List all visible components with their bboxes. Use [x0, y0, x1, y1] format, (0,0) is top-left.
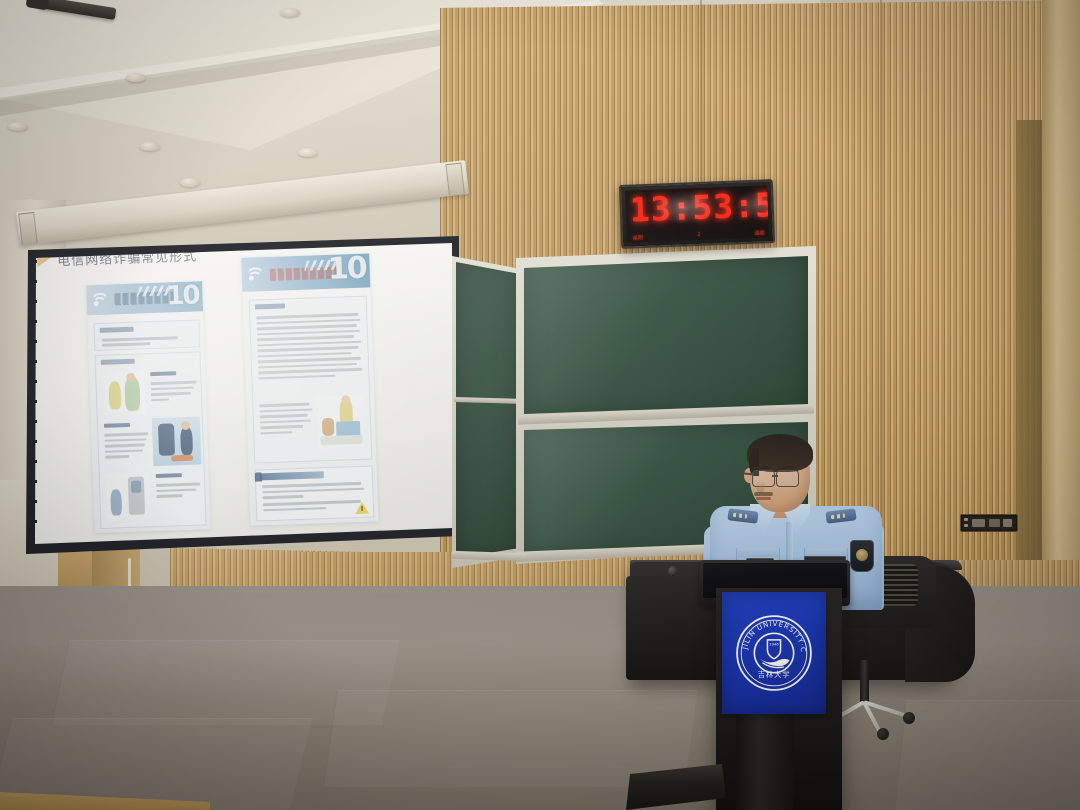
case-illustration	[317, 395, 365, 451]
wall-port-panel-right[interactable]	[960, 514, 1018, 532]
step-label-3	[156, 473, 182, 478]
poster-intro-heading	[100, 327, 134, 333]
poster-steps-heading	[101, 359, 135, 365]
downlight	[298, 148, 318, 157]
housing-bracket	[445, 162, 465, 196]
case-text-block	[256, 313, 362, 383]
mouth	[756, 497, 771, 500]
poster-banner-right: 10	[241, 253, 370, 291]
step-label-1	[150, 371, 176, 376]
downlight	[126, 73, 146, 82]
clock-sublabels: 星期 2 温度	[633, 229, 765, 241]
shoulder-patch	[850, 540, 874, 572]
downlight	[280, 8, 300, 17]
slide: 电信网络诈骗常见形式 10	[22, 236, 460, 554]
lecture-hall-photo: 电信网络诈骗常见形式 10	[0, 0, 1080, 810]
clock-sub-left: 星期	[633, 234, 643, 241]
figure-shape	[124, 377, 140, 412]
figure-shape	[158, 423, 175, 456]
chair-post	[860, 660, 869, 702]
poster-tip-box	[255, 465, 375, 521]
glasses-lens-right	[776, 470, 799, 487]
figure-shape	[110, 489, 122, 515]
poster-steps-box	[95, 351, 207, 529]
figure-shape	[108, 381, 121, 409]
slide-poster-left: 10	[86, 281, 211, 533]
poster-number-left: 10	[166, 282, 199, 309]
step-text-2	[104, 432, 149, 461]
case-text-block-2	[259, 402, 314, 437]
text-line	[102, 336, 178, 341]
poster-banner-left: 10	[86, 281, 203, 315]
step-label-2	[104, 423, 130, 428]
floor-tile	[323, 690, 698, 787]
jilin-university-emblem-icon: JILIN UNIVERSITY·CHINA 1946 吉林大学	[733, 612, 815, 694]
pocket-flap	[737, 548, 779, 557]
figure-shape	[131, 481, 141, 493]
clock-time: 13:53:50	[629, 185, 769, 229]
figure-shape	[180, 427, 193, 455]
svg-text:吉林大学: 吉林大学	[758, 670, 791, 679]
warning-triangle-icon	[355, 502, 369, 514]
figure-shape	[320, 435, 362, 445]
svg-text:1946: 1946	[769, 643, 779, 647]
step-illustration-2	[152, 416, 202, 466]
poster-intro-box	[93, 319, 200, 351]
slide-poster-right: 10	[241, 253, 378, 525]
tip-text-1	[262, 482, 365, 502]
poster-case-heading	[255, 303, 285, 309]
tip-text-2	[263, 500, 365, 515]
clock-sub-right: 温度	[755, 229, 765, 236]
poster-case-box	[249, 296, 373, 464]
chair-caster	[903, 712, 915, 724]
eyebrow-right	[778, 466, 796, 470]
downlight	[8, 122, 28, 131]
chalkboard-left-panel[interactable]	[456, 262, 520, 558]
glasses-bridge	[772, 475, 778, 477]
step-illustration-3	[106, 472, 152, 520]
wifi-icon	[93, 293, 109, 306]
chair-caster	[877, 728, 889, 740]
led-wall-clock: 13:53:50 星期 2 温度	[619, 179, 775, 249]
poster-number-right: 10	[327, 254, 366, 285]
step-text-3	[156, 482, 201, 500]
moustache	[754, 492, 773, 496]
step-illustration-1	[102, 370, 146, 415]
figure-shape	[171, 455, 193, 462]
step-text-1	[150, 381, 197, 405]
downlight	[140, 142, 160, 151]
podium-column	[736, 700, 794, 810]
clock-sub-mid: 2	[697, 232, 700, 239]
projection-screen: 电信网络诈骗常见形式 10	[22, 236, 460, 554]
poster-tip-heading	[260, 471, 324, 480]
downlight	[180, 178, 200, 187]
podium-emblem-plate: JILIN UNIVERSITY·CHINA 1946 吉林大学	[722, 592, 826, 714]
text-line	[102, 342, 150, 346]
wifi-icon	[249, 267, 265, 280]
screen-tension-notches	[22, 236, 52, 554]
clock-display: 13:53:50 星期 2 温度	[625, 185, 769, 242]
chalkboard-upper-panel[interactable]	[524, 256, 808, 414]
figure-shape	[322, 418, 335, 436]
floor-tile	[894, 700, 1080, 810]
